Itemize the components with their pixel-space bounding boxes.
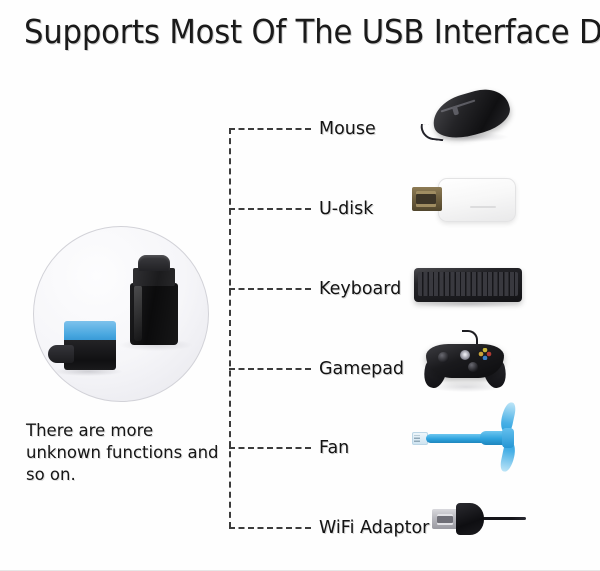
dashed-branch-keyboard bbox=[229, 288, 311, 290]
usb-fan-connector-contacts bbox=[414, 435, 420, 442]
usb-fan-hub bbox=[502, 428, 514, 448]
usb-fan-icon bbox=[410, 400, 530, 474]
mouse-icon bbox=[418, 85, 528, 147]
wifi-adaptor-body bbox=[456, 503, 484, 535]
wifi-adaptor-icon bbox=[432, 497, 532, 543]
gamepad-right-stick bbox=[468, 362, 478, 372]
dashed-branch-gamepad bbox=[229, 368, 311, 370]
usb-flash-drive-seam bbox=[470, 206, 496, 208]
gamepad-left-stick bbox=[438, 352, 449, 363]
page-title: Supports Most Of The USB Interface Devic… bbox=[24, 12, 545, 52]
device-label-fan: Fan bbox=[319, 438, 349, 458]
device-label-gamepad: Gamepad bbox=[319, 359, 404, 379]
usb-fan-flexible-neck bbox=[426, 434, 488, 443]
gamepad-guide-button bbox=[460, 350, 470, 360]
keyboard-keys bbox=[418, 272, 518, 296]
dashed-branch-fan bbox=[229, 447, 311, 449]
usb-c-otg-adapter-black-highlight bbox=[134, 285, 142, 341]
usb-c-otg-adapter-black-connector bbox=[138, 255, 170, 271]
gamepad-face-buttons bbox=[478, 348, 492, 360]
dashed-branch-udisk bbox=[229, 208, 311, 210]
device-label-wifi-adaptor: WiFi Adaptor bbox=[319, 518, 429, 538]
wifi-adaptor-connector-contacts bbox=[437, 514, 453, 525]
usb-flash-drive-icon bbox=[404, 172, 524, 230]
wifi-adaptor-cable bbox=[480, 517, 526, 520]
gamepad-icon bbox=[412, 330, 522, 396]
usb-flash-drive-connector-contacts bbox=[416, 191, 436, 207]
device-label-mouse: Mouse bbox=[319, 119, 376, 139]
product-photo-circle bbox=[33, 226, 209, 402]
dashed-branch-mouse bbox=[229, 128, 311, 130]
usb-flash-drive-body bbox=[438, 178, 516, 222]
device-label-udisk: U-disk bbox=[319, 199, 373, 219]
product-photo-caption: There are more unknown functions and so … bbox=[26, 420, 226, 486]
keyboard-icon bbox=[410, 262, 528, 310]
usb-c-otg-adapter-blue-connector bbox=[48, 345, 74, 363]
device-label-keyboard: Keyboard bbox=[319, 279, 401, 299]
dashed-branch-wifi-adaptor bbox=[229, 527, 311, 529]
dashed-bracket-spine bbox=[229, 128, 231, 528]
usb-adapter-infographic: Supports Most Of The USB Interface Devic… bbox=[0, 0, 600, 571]
